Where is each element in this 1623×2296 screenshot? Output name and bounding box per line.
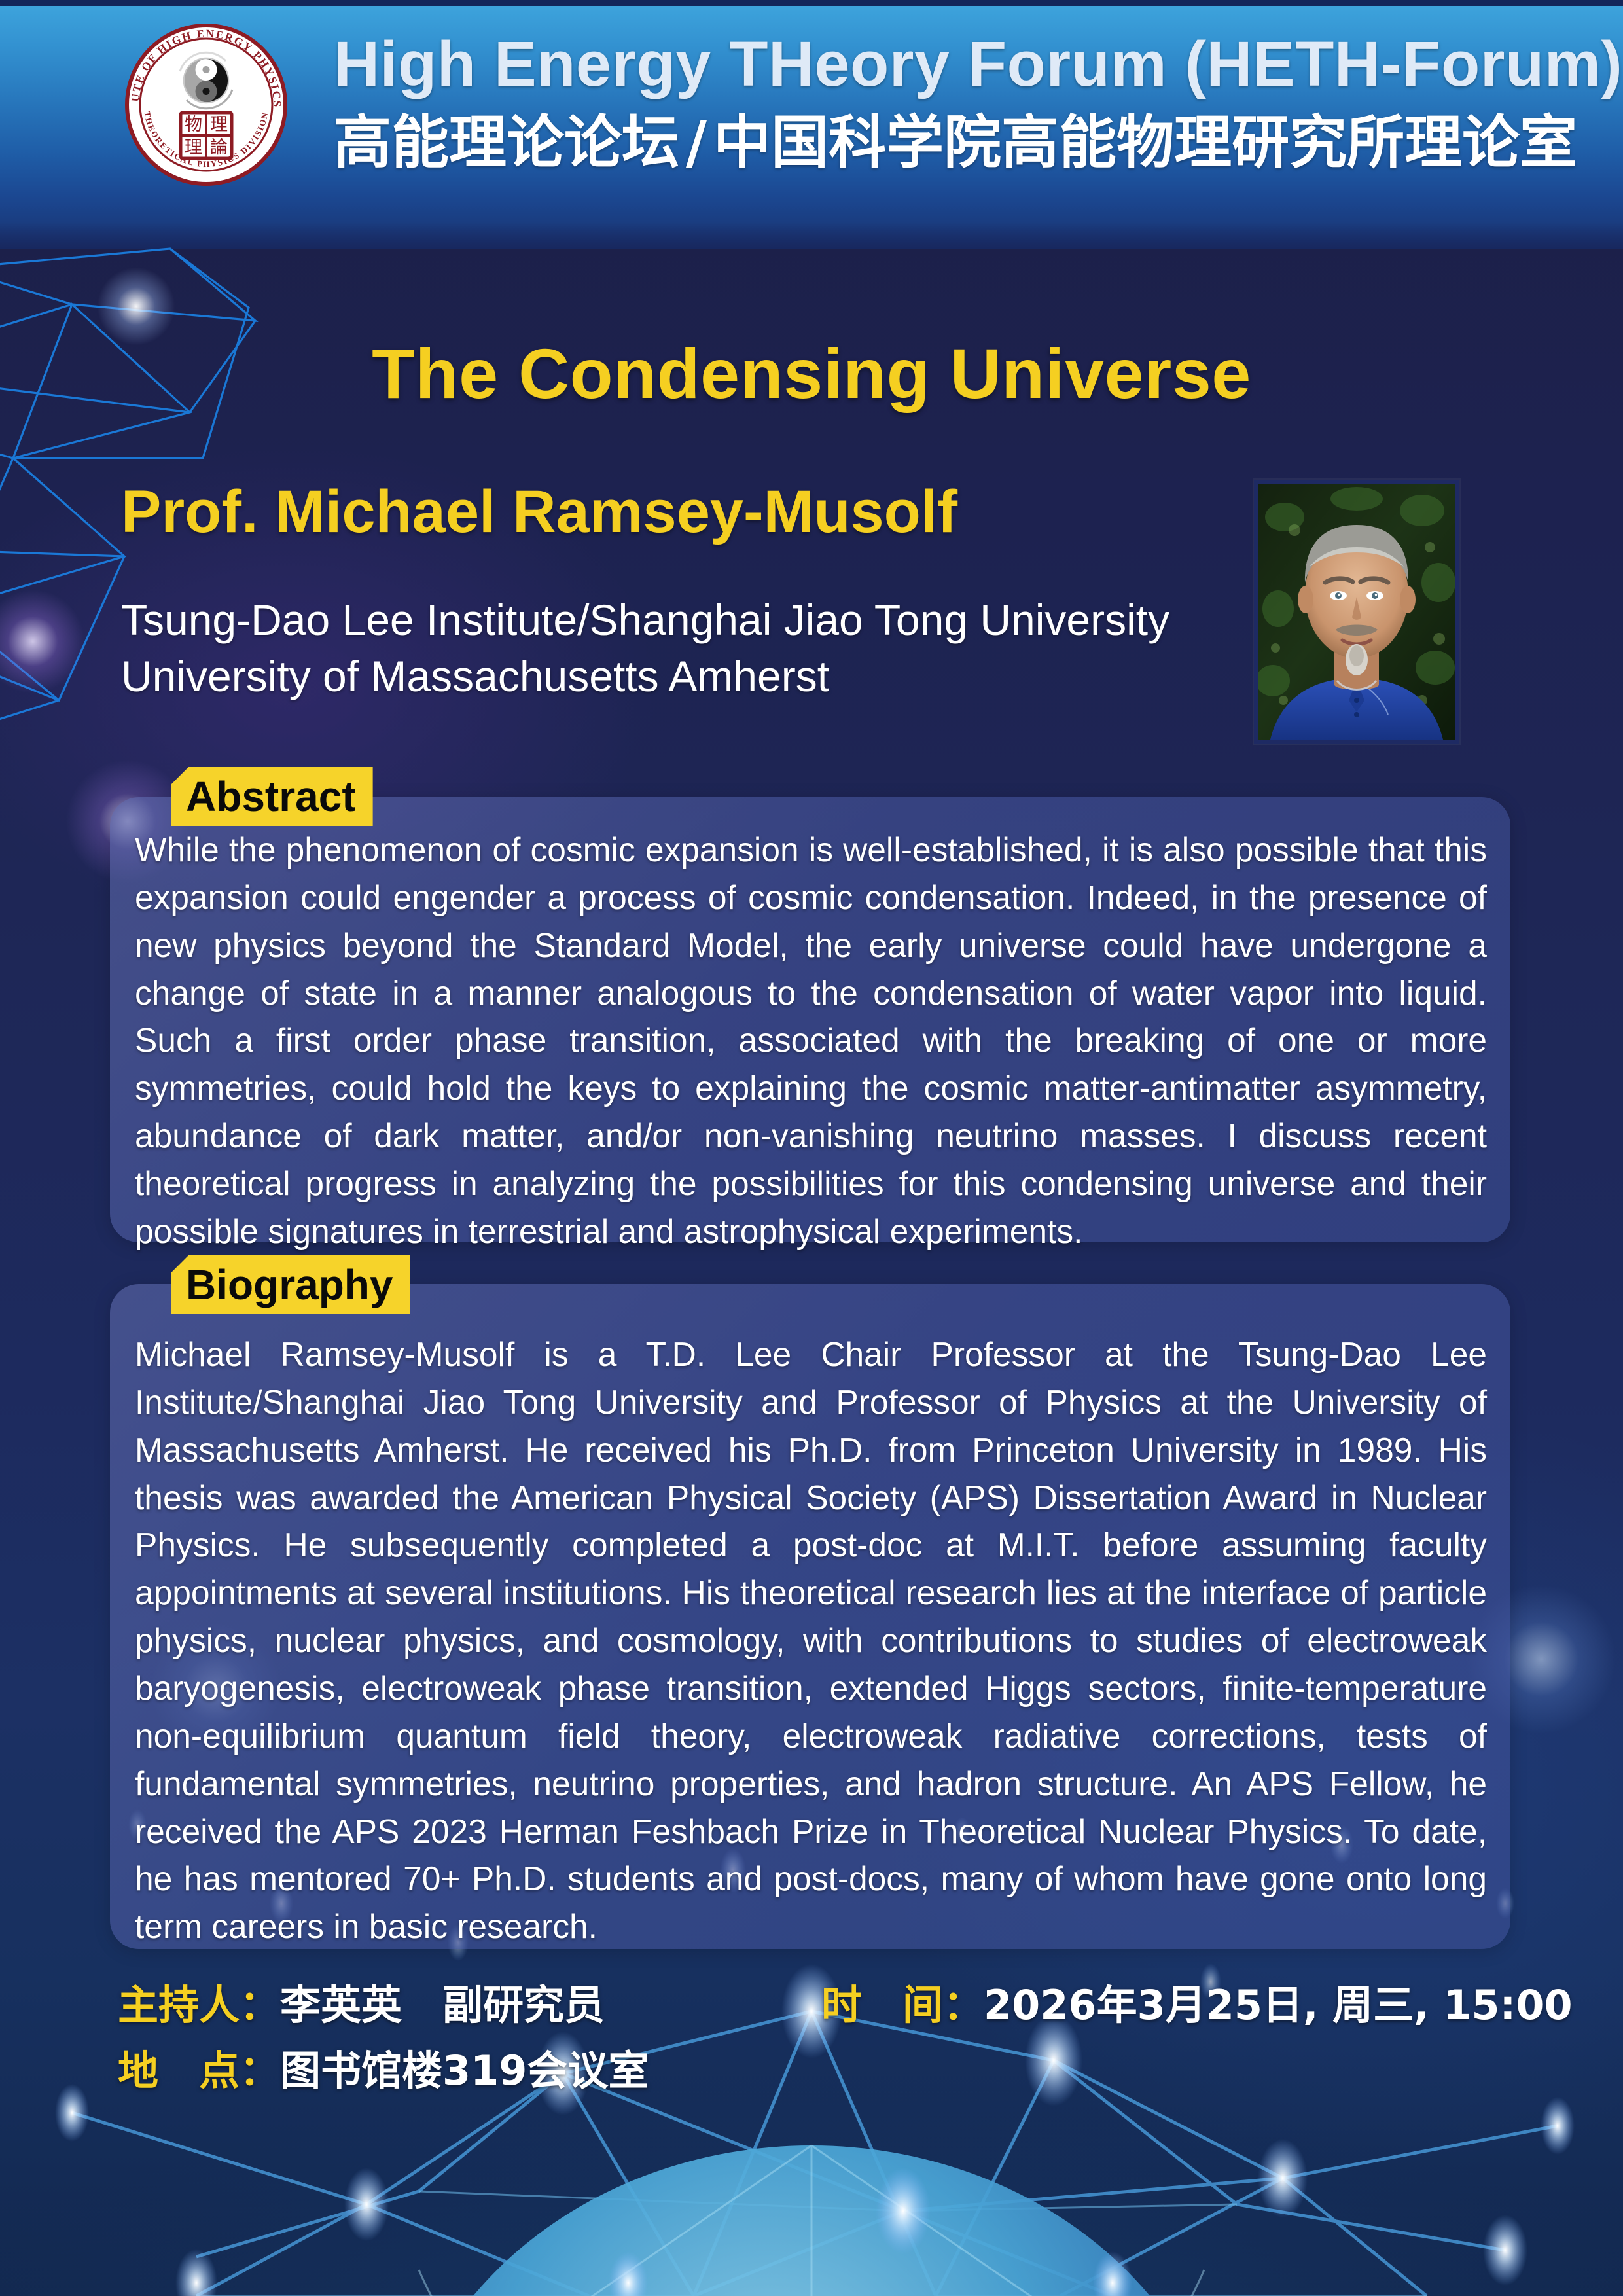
forum-title-cn-main: 高能理论论坛 — [334, 109, 679, 176]
abstract-text: While the phenomenon of cosmic expansion… — [135, 826, 1487, 1255]
seminar-poster: INSTITUTE OF HIGH ENERGY PHYSICS · CAS T… — [0, 0, 1623, 2296]
place-info: 地 点：图书馆楼319会议室 — [118, 2037, 649, 2096]
time-label: 时 间： — [821, 1981, 984, 2029]
abstract-tag: Abstract — [171, 767, 373, 826]
iheap-seal-logo: INSTITUTE OF HIGH ENERGY PHYSICS · CAS T… — [124, 23, 288, 187]
affiliation-line-2: University of Massachusetts Amherst — [121, 649, 1169, 705]
forum-title-cn-slash: / — [679, 109, 713, 176]
talk-title: The Condensing Universe — [0, 332, 1623, 414]
svg-text:理: 理 — [210, 115, 228, 135]
affiliation-line-1: Tsung-Dao Lee Institute/Shanghai Jiao To… — [121, 592, 1169, 649]
svg-text:理: 理 — [185, 137, 202, 158]
svg-text:論: 論 — [210, 137, 228, 158]
top-rule — [0, 0, 1623, 6]
forum-title-en: High Energy THeory Forum (HETH-Forum) — [334, 32, 1622, 97]
speaker-affiliation: Tsung-Dao Lee Institute/Shanghai Jiao To… — [121, 592, 1169, 705]
header-text-block: High Energy THeory Forum (HETH-Forum) 高能… — [334, 32, 1622, 173]
forum-title-cn-sub: 中国科学院高能物理研究所理论室 — [713, 109, 1577, 176]
time-info: 时 间：2026年3月25日, 周三, 15:00 — [821, 1972, 1573, 2031]
place-value: 图书馆楼319会议室 — [280, 2047, 649, 2094]
host-value: 李英英 副研究员 — [280, 1981, 605, 2029]
speaker-name: Prof. Michael Ramsey-Musolf — [121, 478, 957, 547]
biography-text: Michael Ramsey-Musolf is a T.D. Lee Chai… — [135, 1331, 1487, 1950]
portrait-photo — [1258, 484, 1455, 740]
forum-title-cn: 高能理论论坛/中国科学院高能物理研究所理论室 — [334, 111, 1622, 173]
poster-header: INSTITUTE OF HIGH ENERGY PHYSICS · CAS T… — [0, 6, 1623, 249]
host-info: 主持人：李英英 副研究员 — [118, 1972, 605, 2031]
host-label: 主持人： — [118, 1981, 280, 2029]
biography-tag: Biography — [171, 1255, 410, 1314]
speaker-portrait — [1254, 480, 1459, 744]
svg-text:物: 物 — [185, 115, 202, 135]
place-label: 地 点： — [118, 2047, 280, 2094]
time-value: 2026年3月25日, 周三, 15:00 — [984, 1981, 1573, 2029]
